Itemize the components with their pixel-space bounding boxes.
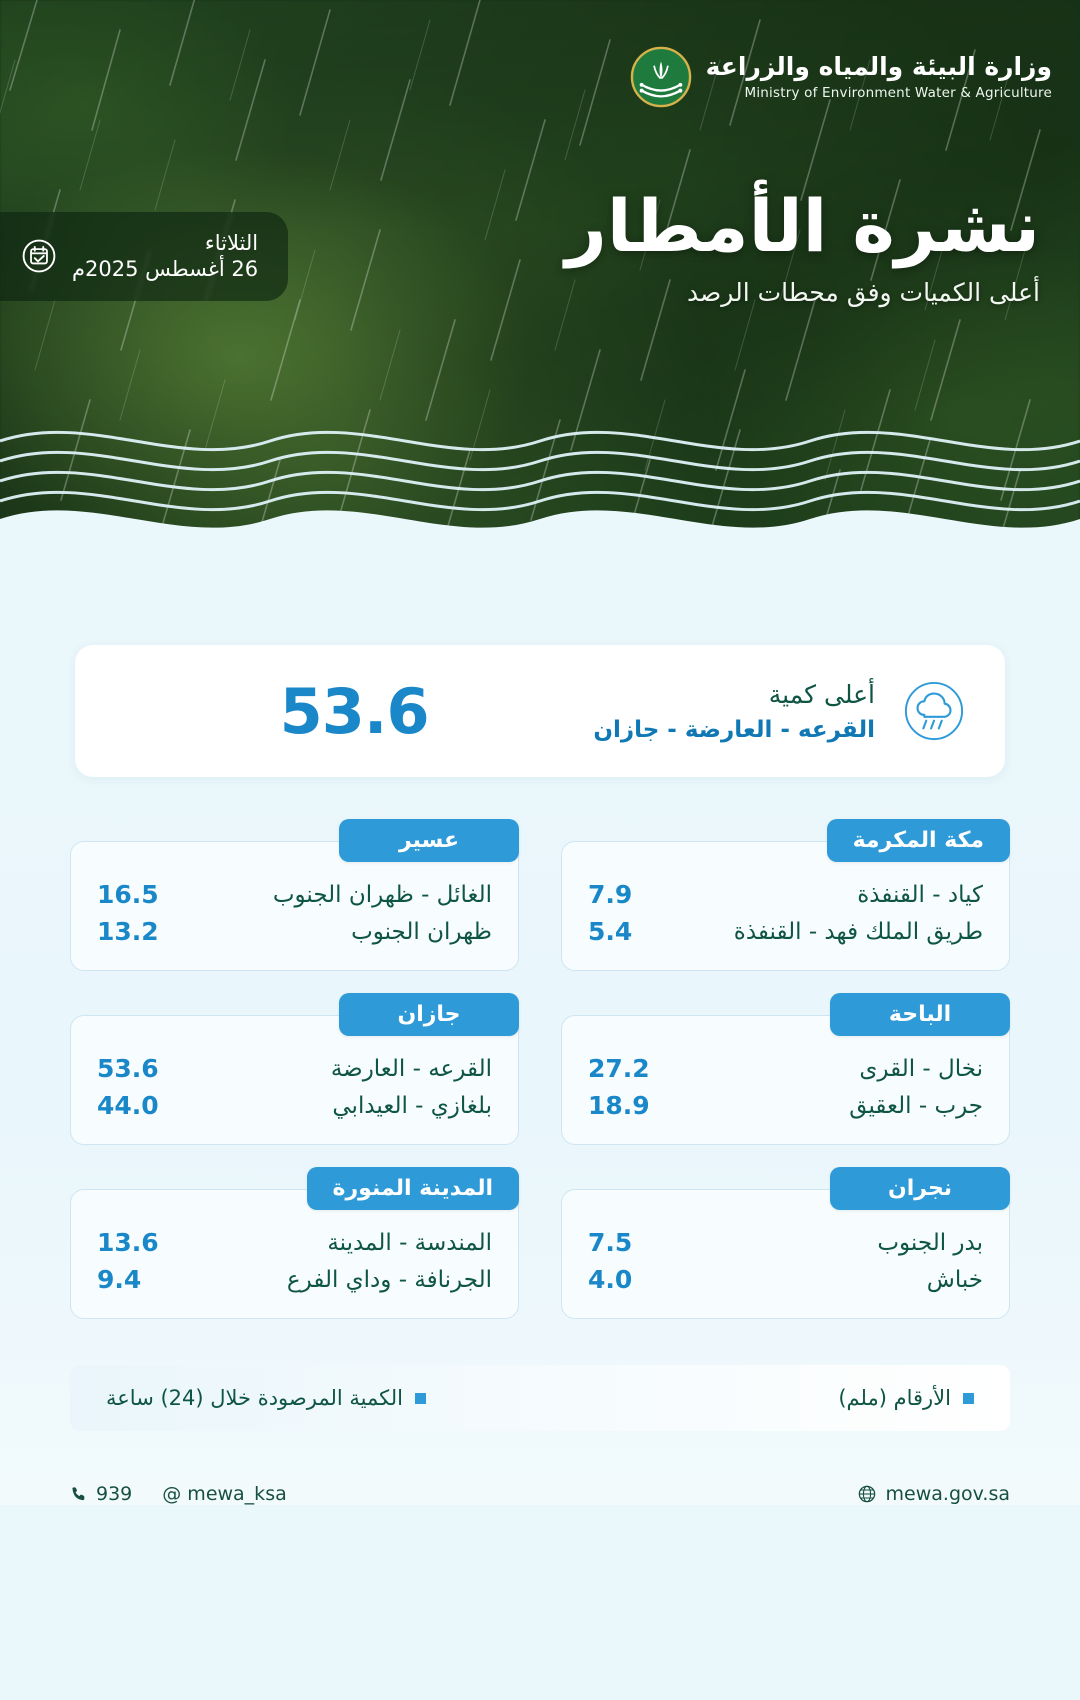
region-title: الباحة (830, 993, 1010, 1036)
region-card-makkah: مكة المكرمة كياد - القنفذة 7.9 طريق المل… (561, 819, 1010, 971)
region-title: مكة المكرمة (827, 819, 1010, 862)
station-value: 5.4 (588, 917, 666, 946)
station-value: 44.0 (97, 1091, 175, 1120)
station-value: 18.9 (588, 1091, 666, 1120)
station-name: طريق الملك فهد - القنفذة (734, 919, 983, 945)
region-title: المدينة المنورة (307, 1167, 519, 1210)
station-name: الجرنافة - وداي الفرع (287, 1267, 492, 1293)
twitter-handle-label: @ mewa_ksa (162, 1483, 286, 1505)
highest-amount-station: القرعه - العارضة - جازان (593, 717, 875, 743)
legend-period-label: الكمية المرصودة خلال (24) ساعة (106, 1386, 403, 1410)
hero-title-block: نشرة الأمطار أعلى الكميات وفق محطات الرص… (565, 190, 1040, 307)
page-subtitle: أعلى الكميات وفق محطات الرصد (565, 278, 1040, 307)
station-row: طريق الملك فهد - القنفذة 5.4 (588, 913, 983, 950)
legend-units-label: الأرقام (ملم) (838, 1386, 951, 1410)
legend-bar: الأرقام (ملم) الكمية المرصودة خلال (24) … (70, 1365, 1010, 1431)
page-title: نشرة الأمطار (565, 190, 1040, 262)
highest-amount-value: 53.6 (115, 675, 593, 748)
station-value: 13.6 (97, 1228, 175, 1257)
contact-bar: mewa.gov.sa 939 @ mewa_ksa (70, 1483, 1010, 1505)
station-name: ظهران الجنوب (351, 919, 492, 945)
region-title: عسير (339, 819, 519, 862)
globe-icon (858, 1485, 876, 1503)
region-card-madinah: المدينة المنورة المندسة - المدينة 13.6 ا… (70, 1167, 519, 1319)
phone-entry[interactable]: 939 (70, 1483, 132, 1505)
station-row: بلغازي - العيدابي 44.0 (97, 1087, 492, 1124)
station-value: 9.4 (97, 1265, 175, 1294)
station-name: بلغازي - العيدابي (332, 1093, 492, 1119)
ministry-logo: وزارة البيئة والمياه والزراعة Ministry o… (630, 46, 1052, 108)
date-value-label: 26 أغسطس 2025م (72, 256, 258, 282)
highest-amount-card: أعلى كمية القرعه - العارضة - جازان 53.6 (75, 645, 1005, 777)
regions-grid: مكة المكرمة كياد - القنفذة 7.9 طريق المل… (70, 819, 1010, 1319)
station-row: كياد - القنفذة 7.9 (588, 876, 983, 913)
legend-item-units: الأرقام (ملم) (838, 1386, 974, 1410)
station-name: خباش (927, 1267, 983, 1293)
phone-icon (70, 1485, 88, 1503)
report-body: أعلى كمية القرعه - العارضة - جازان 53.6 … (0, 645, 1080, 1505)
region-card-asir: عسير الغائل - ظهران الجنوب 16.5 ظهران ال… (70, 819, 519, 971)
station-value: 16.5 (97, 880, 175, 909)
station-name: الغائل - ظهران الجنوب (273, 882, 492, 908)
website-label: mewa.gov.sa (886, 1483, 1010, 1505)
station-value: 7.5 (588, 1228, 666, 1257)
station-row: نخال - القرى 27.2 (588, 1050, 983, 1087)
station-name: بدر الجنوب (877, 1230, 983, 1256)
station-row: الجرنافة - وداي الفرع 9.4 (97, 1261, 492, 1298)
region-title: نجران (830, 1167, 1010, 1210)
website-link[interactable]: mewa.gov.sa (858, 1483, 1010, 1505)
station-name: جرب - العقيق (849, 1093, 983, 1119)
station-row: جرب - العقيق 18.9 (588, 1087, 983, 1124)
highest-amount-label: أعلى كمية (593, 679, 875, 712)
hero-banner: وزارة البيئة والمياه والزراعة Ministry o… (0, 0, 1080, 575)
station-value: 13.2 (97, 917, 175, 946)
rain-cloud-icon (903, 680, 965, 742)
square-bullet-icon (963, 1393, 974, 1404)
region-card-najran: نجران بدر الجنوب 7.5 خباش 4.0 (561, 1167, 1010, 1319)
station-row: ظهران الجنوب 13.2 (97, 913, 492, 950)
region-title: جازان (339, 993, 519, 1036)
station-value: 7.9 (588, 880, 666, 909)
station-name: كياد - القنفذة (857, 882, 983, 908)
station-row: بدر الجنوب 7.5 (588, 1224, 983, 1261)
station-name: القرعه - العارضة (331, 1056, 492, 1082)
saudi-palm-swords-emblem-icon (630, 46, 692, 108)
date-day-label: الثلاثاء (72, 230, 258, 256)
ministry-name-en: Ministry of Environment Water & Agricult… (706, 86, 1052, 100)
legend-item-period: الكمية المرصودة خلال (24) ساعة (106, 1386, 426, 1410)
station-name: نخال - القرى (859, 1056, 983, 1082)
date-badge: الثلاثاء 26 أغسطس 2025م (0, 212, 288, 301)
square-bullet-icon (415, 1393, 426, 1404)
station-row: المندسة - المدينة 13.6 (97, 1224, 492, 1261)
station-row: القرعه - العارضة 53.6 (97, 1050, 492, 1087)
station-name: المندسة - المدينة (327, 1230, 492, 1256)
region-card-jazan: جازان القرعه - العارضة 53.6 بلغازي - الع… (70, 993, 519, 1145)
phone-label: 939 (96, 1483, 132, 1505)
station-value: 27.2 (588, 1054, 666, 1083)
station-row: خباش 4.0 (588, 1261, 983, 1298)
twitter-handle-entry[interactable]: @ mewa_ksa (162, 1483, 286, 1505)
calendar-icon (22, 239, 56, 273)
region-card-albaha: الباحة نخال - القرى 27.2 جرب - العقيق 18… (561, 993, 1010, 1145)
wave-divider (0, 415, 1080, 575)
station-value: 53.6 (97, 1054, 175, 1083)
station-value: 4.0 (588, 1265, 666, 1294)
station-row: الغائل - ظهران الجنوب 16.5 (97, 876, 492, 913)
ministry-name-ar: وزارة البيئة والمياه والزراعة (706, 54, 1052, 80)
